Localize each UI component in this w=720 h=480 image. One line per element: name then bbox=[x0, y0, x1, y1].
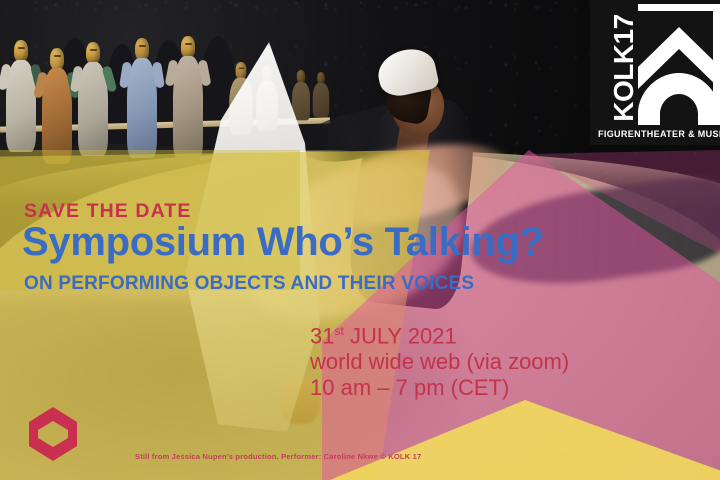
puppet bbox=[292, 70, 310, 120]
logo-subtitle: FIGURENTHEATER & MUSEUM bbox=[598, 129, 720, 139]
puppet bbox=[6, 40, 36, 152]
event-venue: world wide web (via zoom) bbox=[310, 349, 569, 375]
photo-credit: Still from Jessica Nupen’s production. P… bbox=[135, 452, 421, 461]
event-date-number: 31 bbox=[310, 323, 334, 348]
puppet bbox=[127, 38, 157, 158]
event-date: 31st JULY 2021 bbox=[310, 318, 569, 349]
event-date-suffix: st bbox=[334, 324, 343, 338]
page-title: Symposium Who’s Talking? bbox=[22, 220, 544, 265]
event-time: 10 am – 7 pm (CET) bbox=[310, 375, 569, 401]
poster-canvas: SAVE THE DATE Symposium Who’s Talking? O… bbox=[0, 0, 720, 480]
puppet bbox=[78, 42, 108, 156]
logo-wordmark: KOLK17 bbox=[608, 8, 640, 128]
puppet bbox=[173, 36, 203, 160]
kolk17-logo[interactable]: KOLK17 FIGURENTHEATER & MUSEUM bbox=[590, 0, 720, 145]
diamond-outline-icon bbox=[22, 406, 84, 462]
event-date-rest: JULY 2021 bbox=[344, 323, 457, 348]
house-arch-icon bbox=[638, 4, 720, 118]
event-details: 31st JULY 2021 world wide web (via zoom)… bbox=[310, 318, 569, 401]
page-subtitle: ON PERFORMING OBJECTS AND THEIR VOICES bbox=[24, 273, 474, 295]
puppet bbox=[313, 72, 330, 117]
logo-inner: KOLK17 FIGURENTHEATER & MUSEUM bbox=[590, 0, 720, 145]
puppet bbox=[42, 48, 72, 164]
